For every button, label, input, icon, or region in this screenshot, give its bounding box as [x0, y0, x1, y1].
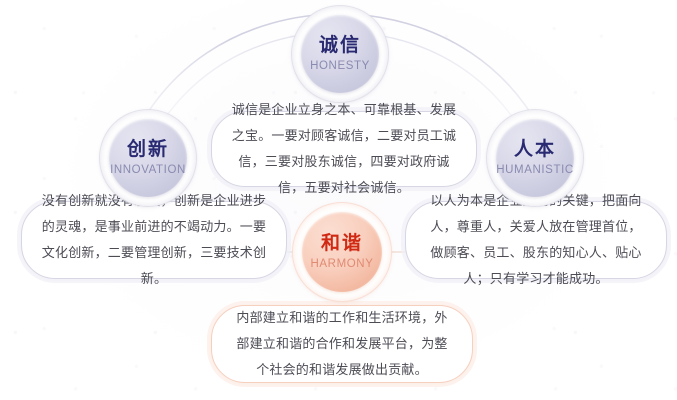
- bubble-harmony: 内部建立和谐的工作和生活环境，外部建立和谐的合作和发展平台，为整个社会的和谐发展…: [211, 305, 473, 383]
- bubble-honesty: 诚信是企业立身之本、可靠根基、发展之宝。一要对顾客诚信，二要对员工诚信，三要对股…: [211, 111, 477, 187]
- humanistic-label-cn: 人本: [514, 139, 556, 161]
- bubble-humanistic: 以人为本是企业成功的关键，把面向人，尊重人，关爱人放在管理首位，做顾客、员工、股…: [405, 201, 667, 279]
- humanistic-core: 人本 HUMANISTIC: [496, 119, 574, 197]
- node-harmony[interactable]: 和谐 HARMONY: [293, 203, 391, 301]
- honesty-core: 诚信 HONESTY: [301, 15, 379, 93]
- humanistic-label-en: HUMANISTIC: [496, 164, 574, 177]
- diagram-canvas: 诚信是企业立身之本、可靠根基、发展之宝。一要对顾客诚信，二要对员工诚信，三要对股…: [0, 0, 677, 400]
- bubble-innovation: 没有创新就没有发展，创新是企业进步的灵魂，是事业前进的不竭动力。一要文化创新，二…: [21, 201, 287, 279]
- harmony-label-en: HARMONY: [311, 258, 374, 271]
- honesty-label-en: HONESTY: [310, 60, 370, 73]
- harmony-core: 和谐 HARMONY: [302, 212, 382, 292]
- harmony-label-cn: 和谐: [321, 233, 363, 255]
- node-humanistic[interactable]: 人本 HUMANISTIC: [487, 110, 583, 206]
- bubble-honesty-text: 诚信是企业立身之本、可靠根基、发展之宝。一要对顾客诚信，二要对员工诚信，三要对股…: [230, 97, 458, 201]
- innovation-label-en: INNOVATION: [110, 164, 186, 177]
- node-honesty[interactable]: 诚信 HONESTY: [292, 6, 388, 102]
- innovation-core: 创新 INNOVATION: [109, 119, 187, 197]
- bubble-harmony-text: 内部建立和谐的工作和生活环境，外部建立和谐的合作和发展平台，为整个社会的和谐发展…: [230, 305, 454, 383]
- honesty-label-cn: 诚信: [319, 35, 361, 57]
- node-innovation[interactable]: 创新 INNOVATION: [100, 110, 196, 206]
- innovation-label-cn: 创新: [127, 139, 169, 161]
